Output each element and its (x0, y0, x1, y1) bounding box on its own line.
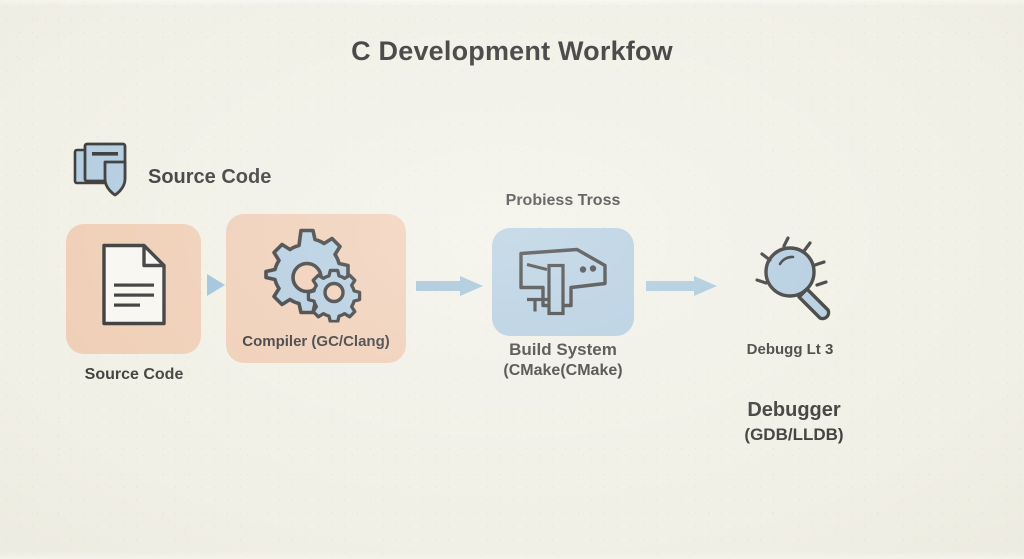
shield-windows-icon (72, 141, 134, 206)
arrow-compiler-to-build-icon (416, 275, 484, 302)
caption-debug-small: Debugg Lt 3 (710, 340, 870, 359)
caption-build-system: Build System (CMake(CMake) (470, 339, 656, 381)
card-build-system[interactable] (492, 228, 634, 336)
arrow-build-to-debugger-icon (646, 275, 718, 302)
card-compiler-label: Compiler (GC/Clang) (226, 333, 406, 350)
caption-build-line2: (CMake(CMake) (470, 361, 656, 381)
caption-build-line1: Build System (470, 339, 656, 361)
magnifier-icon (744, 234, 844, 335)
bottom-edge-highlight (0, 551, 1024, 559)
overline-probiess-tross: Probiess Tross (470, 192, 656, 210)
document-icon (98, 242, 170, 333)
card-source-code[interactable] (66, 224, 201, 354)
arrow-source-to-compiler-icon (205, 272, 227, 303)
caption-source-code: Source Code (36, 365, 232, 385)
top-edge-highlight (0, 0, 1024, 6)
workflow-diagram: C Development Workfow Source Code Source… (0, 0, 1024, 559)
machine-icon (513, 244, 613, 321)
page-title: C Development Workfow (0, 36, 1024, 67)
gears-icon (261, 226, 371, 327)
legend-label: Source Code (148, 166, 271, 189)
legend-source-code: Source Code (72, 141, 271, 206)
card-compiler[interactable]: Compiler (GC/Clang) (226, 214, 406, 363)
caption-debugger-line2: (GDB/LLDB) (706, 424, 882, 446)
caption-debugger-line1: Debugger (706, 398, 882, 424)
caption-debugger: Debugger (GDB/LLDB) (706, 398, 882, 445)
